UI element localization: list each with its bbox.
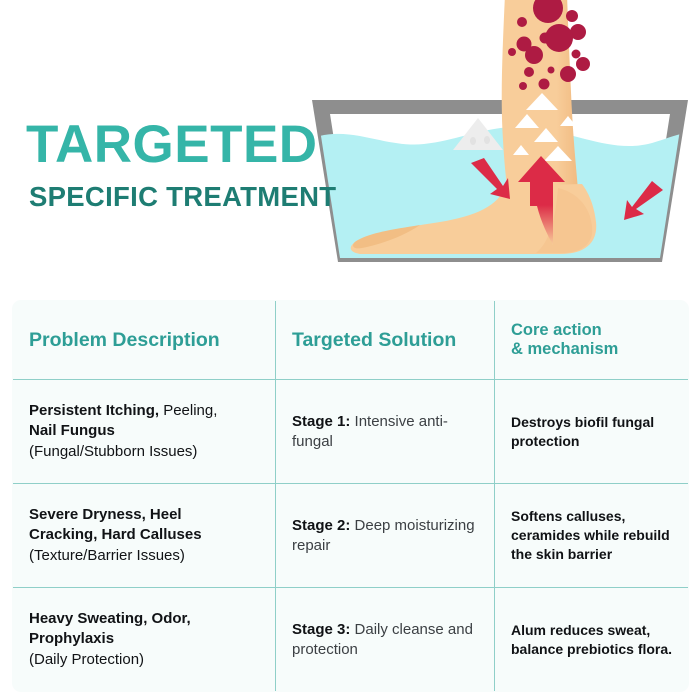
cell-problem-3: Heavy Sweating, Odor, Prophylaxis (Daily… [13,588,276,692]
problem-1-rest-a: Peeling, [159,402,217,419]
solution-1-stage: Stage 1: [292,413,350,430]
problem-2-paren: (Texture/Barrier Issues) [29,546,261,566]
problem-1-bold-b: Nail Fungus [29,422,115,439]
table-head: Problem Description Targeted Solution Co… [13,301,689,380]
hero-illustration-section: TARGETED SPECIFIC TREATMENT [0,0,700,290]
problem-2-bold-b: Cracking, Hard Calluses [29,526,202,543]
header-core-action-line2: & mechanism [511,340,618,358]
title-block: TARGETED SPECIFIC TREATMENT [26,118,346,211]
table-row: Persistent Itching, Peeling, Nail Fungus… [13,380,689,484]
page-subtitle: SPECIFIC TREATMENT [29,183,346,211]
header-problem-description: Problem Description [13,301,276,380]
header-targeted-solution: Targeted Solution [276,301,495,380]
table-header-row: Problem Description Targeted Solution Co… [13,301,689,380]
treatment-comparison-table: Problem Description Targeted Solution Co… [12,300,689,692]
cell-problem-1: Persistent Itching, Peeling, Nail Fungus… [13,380,276,484]
solution-3-stage: Stage 3: [292,621,350,638]
cell-solution-1: Stage 1: Intensive anti-fungal [276,380,495,484]
cell-mechanism-1: Destroys biofil fungal protection [495,380,689,484]
problem-1-paren: (Fungal/Stubborn Issues) [29,442,261,462]
cell-problem-2: Severe Dryness, Heel Cracking, Hard Call… [13,484,276,588]
problem-3-bold-a: Heavy Sweating, Odor, [29,610,191,627]
table-body: Persistent Itching, Peeling, Nail Fungus… [13,380,689,692]
problem-3-bold-b: Prophylaxis [29,630,114,647]
problem-3-paren: (Daily Protection) [29,650,261,670]
comparison-table-wrapper: Problem Description Targeted Solution Co… [12,300,688,678]
problem-1-bold-a: Persistent Itching, [29,402,159,419]
solution-2-stage: Stage 2: [292,517,350,534]
header-core-action: Core action & mechanism [495,301,689,380]
cell-mechanism-2: Softens calluses, ceramides while rebuil… [495,484,689,588]
header-core-action-line1: Core action [511,321,602,339]
cell-mechanism-3: Alum reduces sweat, balance prebiotics f… [495,588,689,692]
page-title: TARGETED [26,118,346,171]
table-row: Heavy Sweating, Odor, Prophylaxis (Daily… [13,588,689,692]
cell-solution-2: Stage 2: Deep moisturizing repair [276,484,495,588]
cell-solution-3: Stage 3: Daily cleanse and protection [276,588,495,692]
problem-2-bold-a: Severe Dryness, Heel [29,506,182,523]
table-row: Severe Dryness, Heel Cracking, Hard Call… [13,484,689,588]
